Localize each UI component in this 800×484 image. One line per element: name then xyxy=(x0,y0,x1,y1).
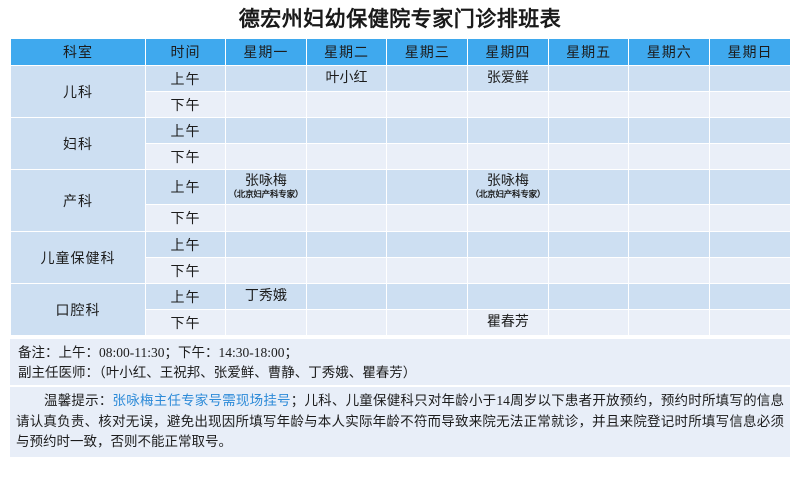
doctor-name: 叶小红 xyxy=(307,71,387,87)
time-slot-cell: 下午 xyxy=(146,310,226,336)
column-header-day-6: 星期六 xyxy=(629,39,710,66)
schedule-cell xyxy=(306,144,387,170)
schedule-cell xyxy=(710,310,791,336)
schedule-page: 德宏州妇幼保健院专家门诊排班表 科室时间星期一星期二星期三星期四星期五星期六星期… xyxy=(0,0,800,484)
schedule-cell xyxy=(468,92,549,118)
schedule-cell xyxy=(468,258,549,284)
schedule-cell xyxy=(387,310,468,336)
schedule-cell xyxy=(226,118,307,144)
table-header: 科室时间星期一星期二星期三星期四星期五星期六星期日 xyxy=(11,39,791,66)
schedule-cell xyxy=(387,258,468,284)
schedule-cell xyxy=(387,92,468,118)
table-body: 儿科上午叶小红张爱鲜下午妇科上午下午产科上午张咏梅（北京妇产科专家）张咏梅（北京… xyxy=(11,66,791,336)
department-cell: 儿科 xyxy=(11,66,146,118)
table-row: 儿科上午叶小红张爱鲜 xyxy=(11,66,791,92)
schedule-cell xyxy=(226,144,307,170)
schedule-cell xyxy=(548,310,629,336)
schedule-cell xyxy=(226,258,307,284)
schedule-cell xyxy=(548,232,629,258)
time-slot-cell: 上午 xyxy=(146,284,226,310)
table-row: 妇科上午 xyxy=(11,118,791,144)
doctor-name: 丁秀娥 xyxy=(226,289,306,305)
table-row: 口腔科上午丁秀娥 xyxy=(11,284,791,310)
schedule-cell xyxy=(710,170,791,205)
schedule-cell: 瞿春芳 xyxy=(468,310,549,336)
department-cell: 口腔科 xyxy=(11,284,146,336)
schedule-cell xyxy=(629,66,710,92)
schedule-cell xyxy=(306,258,387,284)
schedule-cell xyxy=(306,92,387,118)
column-header-time: 时间 xyxy=(146,39,226,66)
schedule-cell xyxy=(548,205,629,232)
schedule-cell xyxy=(548,144,629,170)
time-slot-cell: 下午 xyxy=(146,205,226,232)
schedule-cell xyxy=(468,144,549,170)
schedule-cell xyxy=(387,205,468,232)
schedule-cell xyxy=(710,118,791,144)
doctor-name: 张咏梅 xyxy=(226,174,306,190)
doctor-name: 张爱鲜 xyxy=(468,71,548,87)
schedule-cell: 张爱鲜 xyxy=(468,66,549,92)
schedule-cell xyxy=(710,258,791,284)
schedule-cell xyxy=(226,66,307,92)
column-header-day-3: 星期三 xyxy=(387,39,468,66)
column-header-dept: 科室 xyxy=(11,39,146,66)
schedule-cell xyxy=(710,144,791,170)
tips-highlight: 张咏梅主任专家号需现场挂号 xyxy=(113,393,291,408)
column-header-day-2: 星期二 xyxy=(306,39,387,66)
schedule-cell xyxy=(387,170,468,205)
doctor-specialty-note: （北京妇产科专家） xyxy=(468,190,548,200)
schedule-cell xyxy=(629,232,710,258)
time-slot-cell: 上午 xyxy=(146,118,226,144)
time-slot-cell: 上午 xyxy=(146,170,226,205)
schedule-cell: 张咏梅（北京妇产科专家） xyxy=(226,170,307,205)
schedule-cell xyxy=(710,66,791,92)
schedule-cell xyxy=(306,205,387,232)
schedule-cell xyxy=(629,284,710,310)
department-cell: 妇科 xyxy=(11,118,146,170)
schedule-cell xyxy=(629,310,710,336)
schedule-cell xyxy=(306,310,387,336)
doctor-specialty-note: （北京妇产科专家） xyxy=(226,190,306,200)
schedule-cell xyxy=(306,284,387,310)
time-slot-cell: 上午 xyxy=(146,232,226,258)
schedule-cell xyxy=(306,118,387,144)
schedule-cell xyxy=(226,92,307,118)
schedule-cell xyxy=(548,258,629,284)
schedule-cell xyxy=(387,144,468,170)
schedule-cell xyxy=(548,284,629,310)
table-row: 产科上午张咏梅（北京妇产科专家）张咏梅（北京妇产科专家） xyxy=(11,170,791,205)
schedule-cell xyxy=(387,284,468,310)
schedule-cell xyxy=(629,144,710,170)
time-slot-cell: 下午 xyxy=(146,258,226,284)
schedule-cell xyxy=(548,92,629,118)
schedule-cell xyxy=(629,205,710,232)
header-row: 科室时间星期一星期二星期三星期四星期五星期六星期日 xyxy=(11,39,791,66)
department-cell: 儿童保健科 xyxy=(11,232,146,284)
schedule-cell: 丁秀娥 xyxy=(226,284,307,310)
schedule-cell xyxy=(387,66,468,92)
time-slot-cell: 上午 xyxy=(146,66,226,92)
schedule-cell: 叶小红 xyxy=(306,66,387,92)
schedule-cell xyxy=(629,258,710,284)
time-slot-cell: 下午 xyxy=(146,144,226,170)
doctor-name: 张咏梅 xyxy=(468,174,548,190)
schedule-cell xyxy=(387,118,468,144)
schedule-table-wrap: 科室时间星期一星期二星期三星期四星期五星期六星期日 儿科上午叶小红张爱鲜下午妇科… xyxy=(10,38,790,336)
page-title: 德宏州妇幼保健院专家门诊排班表 xyxy=(0,0,800,38)
remarks-block: 备注：上午：08:00-11:30；下午：14:30-18:00； 副主任医师：… xyxy=(10,339,790,385)
schedule-cell xyxy=(629,92,710,118)
schedule-cell xyxy=(629,118,710,144)
column-header-day-7: 星期日 xyxy=(710,39,791,66)
schedule-cell xyxy=(387,232,468,258)
tips-block: 温馨提示：张咏梅主任专家号需现场挂号；儿科、儿童保健科只对年龄小于14周岁以下患… xyxy=(10,387,790,457)
schedule-cell xyxy=(548,66,629,92)
schedule-cell xyxy=(468,205,549,232)
schedule-cell xyxy=(710,284,791,310)
remarks-doctors: 副主任医师：（叶小红、王祝邦、张爱鲜、曹静、丁秀娥、瞿春芳） xyxy=(18,363,782,383)
schedule-cell xyxy=(306,232,387,258)
schedule-cell xyxy=(226,310,307,336)
schedule-cell: 张咏梅（北京妇产科专家） xyxy=(468,170,549,205)
schedule-table: 科室时间星期一星期二星期三星期四星期五星期六星期日 儿科上午叶小红张爱鲜下午妇科… xyxy=(10,38,791,336)
time-slot-cell: 下午 xyxy=(146,92,226,118)
table-row: 儿童保健科上午 xyxy=(11,232,791,258)
department-cell: 产科 xyxy=(11,170,146,232)
schedule-cell xyxy=(710,205,791,232)
column-header-day-5: 星期五 xyxy=(548,39,629,66)
schedule-cell xyxy=(306,170,387,205)
schedule-cell xyxy=(468,284,549,310)
column-header-day-4: 星期四 xyxy=(468,39,549,66)
schedule-cell xyxy=(629,170,710,205)
doctor-name: 瞿春芳 xyxy=(468,315,548,331)
schedule-cell xyxy=(226,232,307,258)
schedule-cell xyxy=(468,232,549,258)
tips-label: 温馨提示： xyxy=(44,393,113,408)
schedule-cell xyxy=(710,92,791,118)
schedule-cell xyxy=(548,170,629,205)
schedule-cell xyxy=(226,205,307,232)
remarks-hours: 备注：上午：08:00-11:30；下午：14:30-18:00； xyxy=(18,343,782,363)
column-header-day-1: 星期一 xyxy=(226,39,307,66)
schedule-cell xyxy=(468,118,549,144)
schedule-cell xyxy=(710,232,791,258)
schedule-cell xyxy=(548,118,629,144)
